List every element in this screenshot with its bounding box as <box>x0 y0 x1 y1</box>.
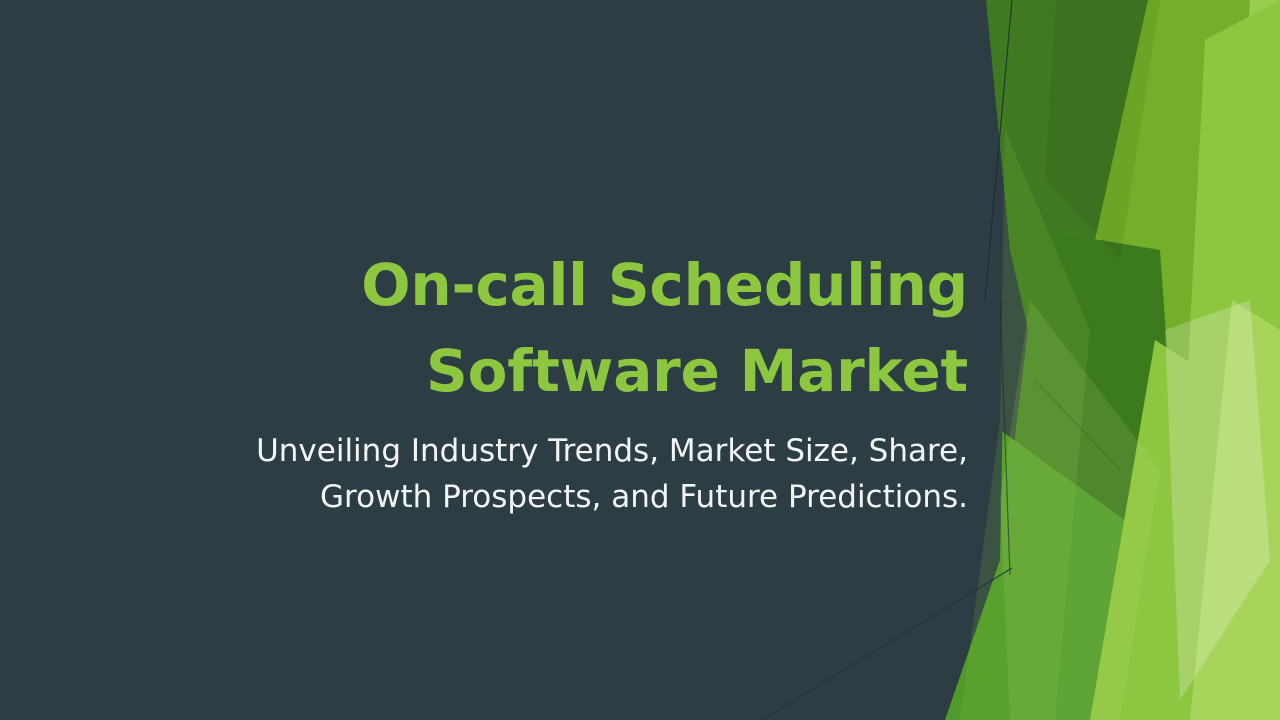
subtitle-placeholder: Unveiling Industry Trends, Market Size, … <box>180 429 968 520</box>
page-title: On-call Scheduling Software Market <box>200 243 968 415</box>
page-subtitle: Unveiling Industry Trends, Market Size, … <box>180 429 968 520</box>
presentation-slide: On-call Scheduling Software Market Unvei… <box>0 0 1280 720</box>
title-placeholder: On-call Scheduling Software Market <box>200 243 968 415</box>
slide-content-layer: On-call Scheduling Software Market Unvei… <box>0 0 1280 720</box>
